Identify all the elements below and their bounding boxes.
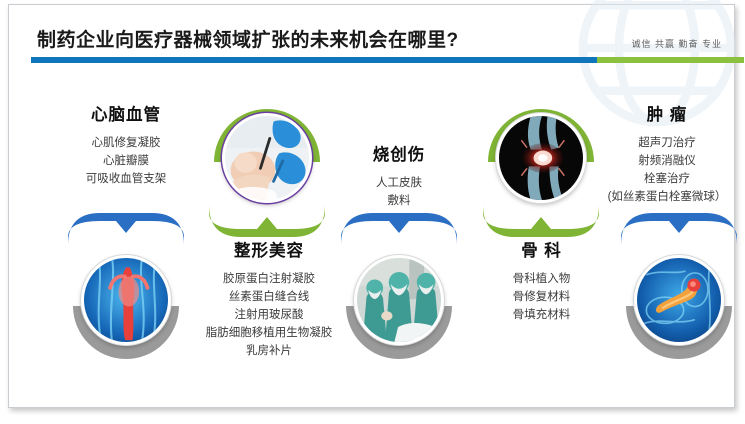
column-cardio: 心脑血管 心肌修复凝胶 心脏瓣膜 可吸收血管支架 [31,101,221,188]
node-cardio[interactable] [67,221,185,373]
image-surgeons-operating [354,255,444,345]
node-burn-trauma[interactable] [340,221,458,373]
header-rule-blue [31,57,597,63]
list-item: 可吸收血管支架 [31,170,221,188]
slide-canvas: 制药企业向医疗器械领域扩张的未来机会在哪里? 诚信 共赢 勤奋 专业 心脑血管 … [0,0,745,424]
banner-green-plastic-surgery [205,205,329,243]
image-knee-joint [496,113,586,203]
column-items-plastic-surgery: 胶原蛋白注射凝胶 丝素蛋白缝合线 注射用玻尿酸 脂肪细胞移植用生物凝胶 乳房补片 [169,270,369,360]
banner-blue-burn-trauma [337,207,461,245]
column-items-oncology: 超声刀治疗 射频消融仪 栓塞治疗 (如丝素蛋白栓塞微球） [587,134,745,206]
list-item: 骨填充材料 [449,306,634,324]
list-item: 脂肪细胞移植用生物凝胶 [169,324,369,342]
list-item: 胶原蛋白注射凝胶 [169,270,369,288]
list-item: 丝素蛋白缝合线 [169,288,369,306]
list-item: 注射用玻尿酸 [169,306,369,324]
image-pancreas-organ [634,255,724,345]
slide-frame: 制药企业向医疗器械领域扩张的未来机会在哪里? 诚信 共赢 勤奋 专业 心脑血管 … [8,4,735,408]
list-item: 心肌修复凝胶 [31,134,221,152]
node-orthopedics[interactable] [482,101,600,253]
list-item: 乳房补片 [169,342,369,360]
banner-green-orthopedics [479,205,603,243]
page-title: 制药企业向医疗器械领域扩张的未来机会在哪里? [37,25,459,52]
image-cosmetic-procedure [222,113,312,203]
list-item: 人工皮肤 [309,174,489,192]
company-slogan: 诚信 共赢 勤奋 专业 [631,37,722,50]
list-item: 骨科植入物 [449,270,634,288]
list-item: 栓塞治疗 [587,170,745,188]
column-heading-oncology: 肿 瘤 [587,101,745,125]
column-items-cardio: 心肌修复凝胶 心脏瓣膜 可吸收血管支架 [31,134,221,188]
column-items-burn-trauma: 人工皮肤 敷料 [309,174,489,210]
list-item: (如丝素蛋白栓塞微球） [587,188,745,206]
list-item: 射频消融仪 [587,152,745,170]
list-item: 超声刀治疗 [587,134,745,152]
list-item: 骨修复材料 [449,288,634,306]
column-heading-cardio: 心脑血管 [31,101,221,125]
list-item: 心脏瓣膜 [31,152,221,170]
column-plastic-surgery: 整形美容 胶原蛋白注射凝胶 丝素蛋白缝合线 注射用玻尿酸 脂肪细胞移植用生物凝胶… [169,237,369,360]
column-oncology: 肿 瘤 超声刀治疗 射频消融仪 栓塞治疗 (如丝素蛋白栓塞微球） [587,101,745,206]
image-aorta-vessel [81,255,171,345]
column-items-orthopedics: 骨科植入物 骨修复材料 骨填充材料 [449,270,634,324]
banner-blue-oncology [617,207,741,245]
header-rule-green [597,57,744,63]
column-burn-trauma: 烧创伤 人工皮肤 敷料 [309,141,489,210]
column-heading-burn-trauma: 烧创伤 [309,141,489,165]
node-oncology[interactable] [620,221,738,373]
